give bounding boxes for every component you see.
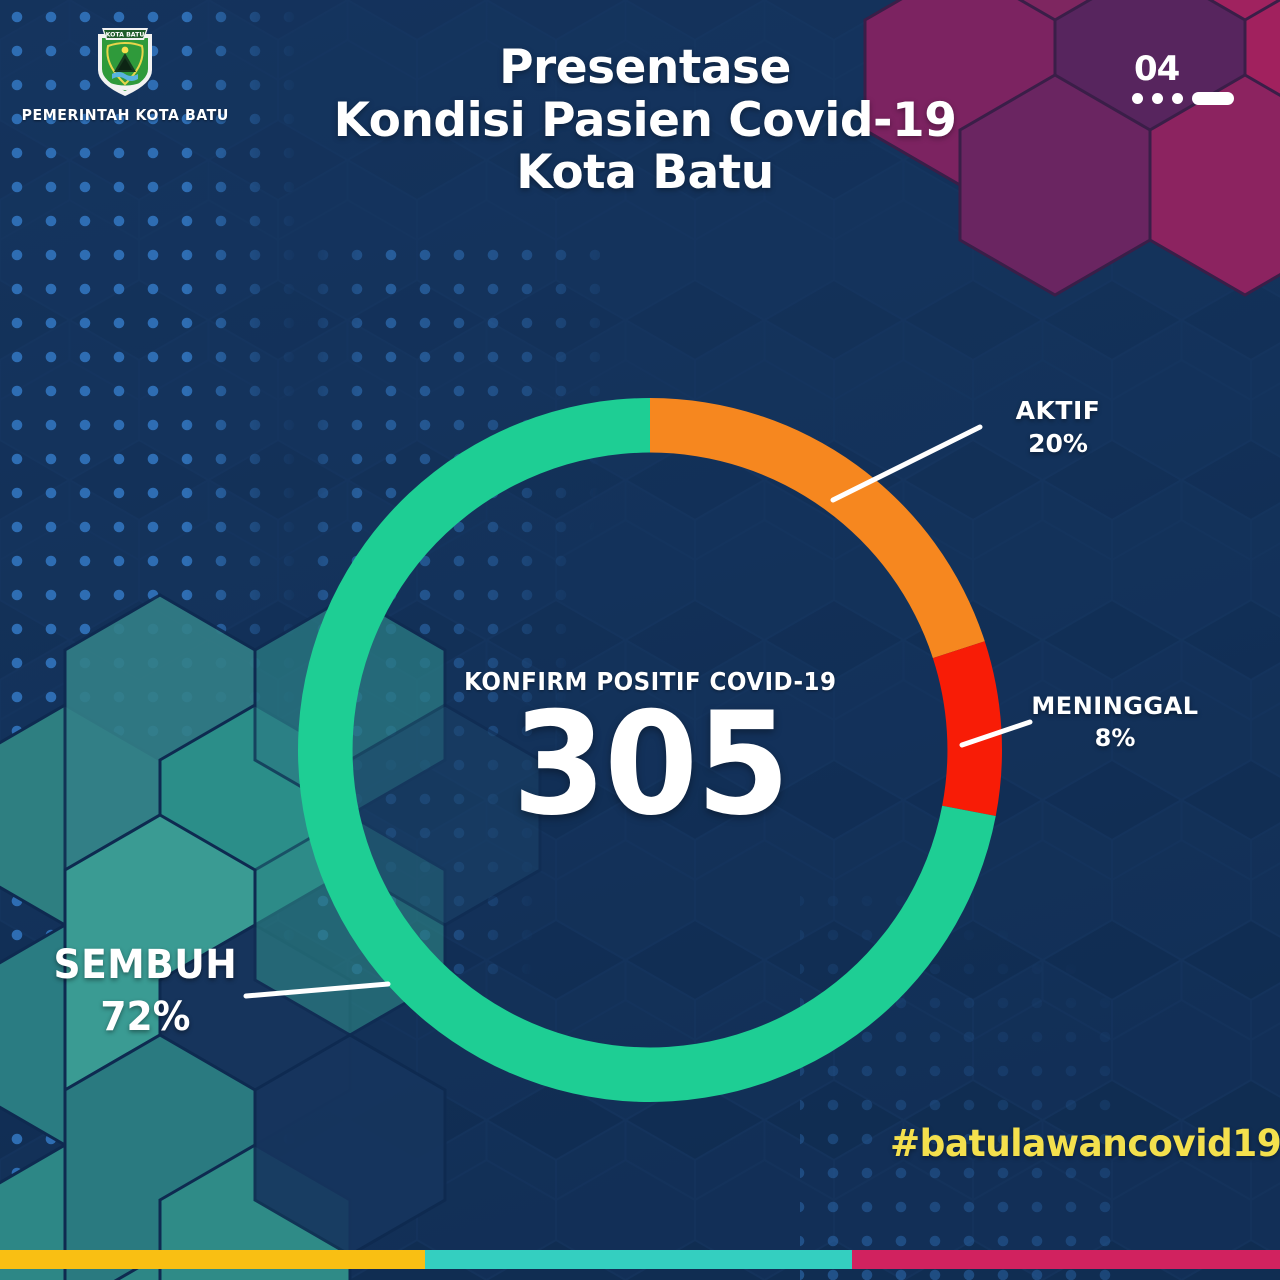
leader-line-aktif xyxy=(833,427,980,500)
callout-meninggal: MENINGGAL 8% xyxy=(1000,692,1230,752)
callout-leader-lines xyxy=(0,0,1280,1280)
callout-aktif-value: 20% xyxy=(968,429,1148,458)
bottom-color-bar xyxy=(0,1250,1280,1269)
callout-sembuh-value: 72% xyxy=(42,994,249,1040)
callout-aktif: AKTIF 20% xyxy=(968,396,1148,458)
callout-sembuh-label: SEMBUH xyxy=(42,942,249,988)
bottom-bar-segment-yellow xyxy=(0,1250,425,1269)
callout-meninggal-value: 8% xyxy=(1000,724,1230,752)
callout-aktif-label: AKTIF xyxy=(968,396,1148,425)
leader-line-sembuh xyxy=(246,984,388,996)
bottom-bar-segment-magenta xyxy=(852,1250,1280,1269)
callout-meninggal-label: MENINGGAL xyxy=(1000,692,1230,720)
bottom-bar-segment-teal xyxy=(425,1250,853,1269)
hashtag: #batulawancovid19 xyxy=(890,1122,1280,1165)
callout-sembuh: SEMBUH 72% xyxy=(42,942,249,1040)
infographic-canvas: KOTA BATU PEMERINTAH KOTA BATU Presentas… xyxy=(0,0,1280,1280)
